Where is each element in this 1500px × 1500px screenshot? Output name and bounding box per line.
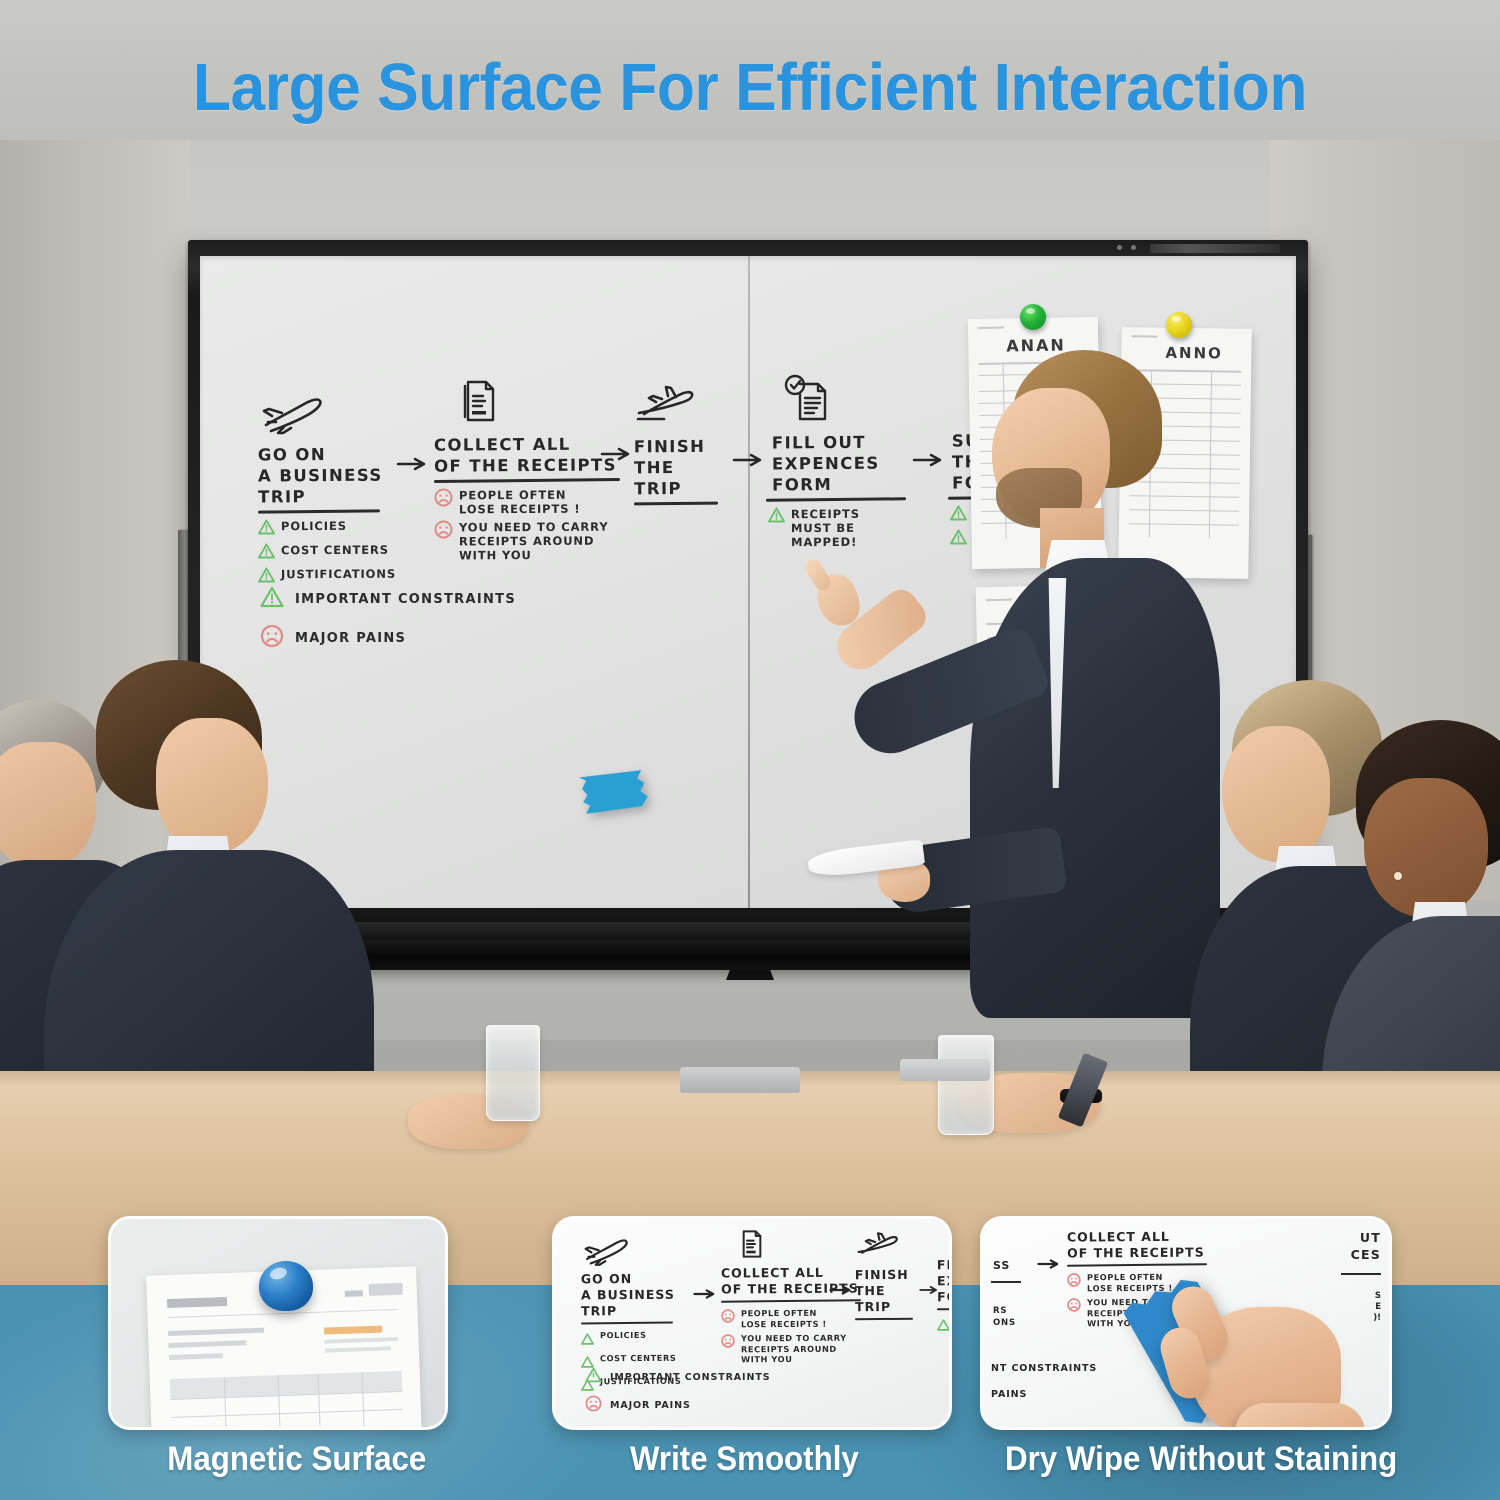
blue-board-eraser[interactable]	[575, 760, 657, 826]
flow-arrow-icon	[396, 456, 432, 476]
thumb-bullet: PEOPLE OFTEN LOSE RECEIPTS !	[741, 1308, 827, 1329]
diagram-step-2: COLLECT ALL OF THE RECEIPTS PEOPLE OFTEN…	[434, 376, 634, 566]
earring-icon	[1394, 872, 1402, 880]
cropped-legend-1: NT CONSTRAINTS	[991, 1363, 1097, 1374]
thumb-step-3-title: FINISH THE TRIP	[855, 1267, 925, 1315]
sad-face-icon	[260, 624, 284, 652]
thumb-step-3: FINISH THE TRIP	[855, 1231, 925, 1320]
bullet-label: COST CENTERS	[281, 542, 389, 557]
water-glass-right[interactable]	[938, 1035, 994, 1135]
thumb-legend-label: IMPORTANT CONSTRAINTS	[610, 1372, 770, 1383]
step-2-bullets: PEOPLE OFTEN LOSE RECEIPTS ! YOU NEED TO…	[434, 488, 634, 562]
legend-row: MAJOR PAINS	[260, 624, 516, 652]
board-screw-icon	[1131, 245, 1136, 250]
hero-scene-photo: GO ON A BUSINESS TRIP POLICIES	[0, 140, 1500, 1300]
bullet-label: JUSTIFICATIONS	[281, 566, 396, 581]
diagram-step-1: GO ON A BUSINESS TRIP POLICIES	[258, 392, 408, 591]
sad-face-icon	[434, 488, 453, 511]
board-screw-icon	[1117, 245, 1122, 250]
blue-magnet[interactable]	[259, 1261, 313, 1311]
thumb-legend-label: MAJOR PAINS	[610, 1400, 691, 1411]
yellow-magnet[interactable]	[1166, 312, 1192, 338]
cropped-text-ss: SS	[993, 1259, 1010, 1272]
cropped-text-fragment: SE)!	[1373, 1291, 1381, 1324]
feature-thumb-write-smoothly: GO ON A BUSINESS TRIP POLICIES COST CENT…	[552, 1216, 952, 1430]
cropped-text-rs: RSONS	[993, 1305, 1016, 1329]
feature-thumb-dry-wipe: SS RSONS COLLECT ALL OF THE RECEIPTS PEO…	[980, 1216, 1392, 1430]
thumb-legend: IMPORTANT CONSTRAINTS MAJOR PAINS	[585, 1367, 770, 1428]
legend-label: IMPORTANT CONSTRAINTS	[295, 592, 516, 607]
warning-triangle-icon	[581, 1330, 594, 1349]
feature-thumb-magnetic-surface	[108, 1216, 448, 1430]
flow-arrow-icon	[829, 1281, 855, 1300]
airplane-landing-icon	[634, 384, 730, 432]
bullet-label: POLICIES	[281, 518, 347, 532]
warning-triangle-icon	[258, 543, 275, 563]
bullet-label: PEOPLE OFTEN LOSE RECEIPTS !	[459, 487, 581, 516]
feature-caption-2: Write Smoothly	[630, 1440, 859, 1479]
sad-face-icon	[721, 1308, 735, 1327]
thumb-diagram: GO ON A BUSINESS TRIP POLICIES COST CENT…	[555, 1219, 949, 1427]
warning-triangle-icon	[258, 519, 275, 539]
sad-face-icon	[1067, 1272, 1081, 1291]
thumb-bullet: YOU NEED TO CARRY RECEIPTS AROUND WITH Y…	[741, 1333, 847, 1365]
legend-row: IMPORTANT CONSTRAINTS	[260, 586, 516, 612]
warning-triangle-icon	[937, 1316, 950, 1335]
airplane-takeoff-icon	[581, 1235, 697, 1271]
presenter-person	[840, 340, 1260, 1040]
flow-arrow-icon	[600, 446, 636, 466]
receipt-document-icon	[458, 376, 634, 430]
sad-face-icon	[721, 1333, 735, 1352]
step-1-bullets: POLICIES COST CENTERS JUST	[258, 519, 408, 587]
water-glass-left[interactable]	[486, 1025, 540, 1121]
bullet-item: YOU NEED TO CARRY RECEIPTS AROUND WITH Y…	[434, 520, 634, 562]
cropped-legend-2: PAINS	[991, 1389, 1027, 1400]
thumb-bullet: COST CENTERS	[600, 1353, 676, 1364]
bullet-item: JUSTIFICATIONS	[258, 567, 408, 587]
wrist	[1235, 1403, 1365, 1430]
feature-caption-3: Dry Wipe Without Staining	[1005, 1440, 1397, 1479]
flow-arrow-icon	[693, 1285, 719, 1304]
bullet-item: PEOPLE OFTEN LOSE RECEIPTS !	[434, 488, 634, 516]
bullet-item: POLICIES	[258, 519, 408, 539]
thumb-bullet: POLICIES	[600, 1330, 647, 1341]
airplane-landing-icon	[855, 1231, 925, 1267]
warning-triangle-icon	[768, 507, 785, 527]
desk-tray	[900, 1059, 990, 1081]
warning-triangle-icon	[260, 586, 284, 612]
thumb3-step-2-title: COLLECT ALL OF THE RECEIPTS	[1067, 1228, 1227, 1261]
bullet-item: COST CENTERS	[258, 543, 408, 563]
thumb-step-4: FILL OUT EXPENCES FORM RECEIPTS MUST BE …	[937, 1231, 952, 1352]
thumb-step-1-title: GO ON A BUSINESS TRIP	[581, 1271, 697, 1320]
warning-triangle-icon	[585, 1367, 602, 1387]
step-3-title: FINISH THE TRIP	[634, 436, 730, 500]
green-magnet[interactable]	[1020, 304, 1046, 330]
legend-label: MAJOR PAINS	[295, 631, 406, 646]
receipt-document-icon	[737, 1227, 871, 1265]
diagram-legend: IMPORTANT CONSTRAINTS MAJOR PAINS	[260, 586, 516, 664]
sad-face-icon	[434, 520, 453, 543]
cropped-text-ut-ces: UTCES	[1351, 1229, 1381, 1263]
board-top-hardware	[1150, 244, 1280, 253]
warning-triangle-icon	[258, 567, 275, 587]
flow-arrow-icon	[732, 452, 768, 472]
airplane-takeoff-icon	[258, 392, 408, 440]
thumb-step-4-title: FILL OUT EXPENCES FORM	[937, 1257, 952, 1306]
step-1-title: GO ON A BUSINESS TRIP	[258, 443, 408, 507]
sad-face-icon	[1067, 1297, 1081, 1316]
diagram-step-3: FINISH THE TRIP	[634, 384, 730, 505]
sad-face-icon	[585, 1395, 602, 1416]
page-title: Large Surface For Efficient Interaction	[193, 49, 1307, 126]
feature-caption-1: Magnetic Surface	[167, 1440, 426, 1479]
desk-clamp	[680, 1067, 800, 1093]
bullet-label: YOU NEED TO CARRY RECEIPTS AROUND WITH Y…	[459, 519, 609, 562]
flow-arrow-icon	[1037, 1255, 1063, 1274]
